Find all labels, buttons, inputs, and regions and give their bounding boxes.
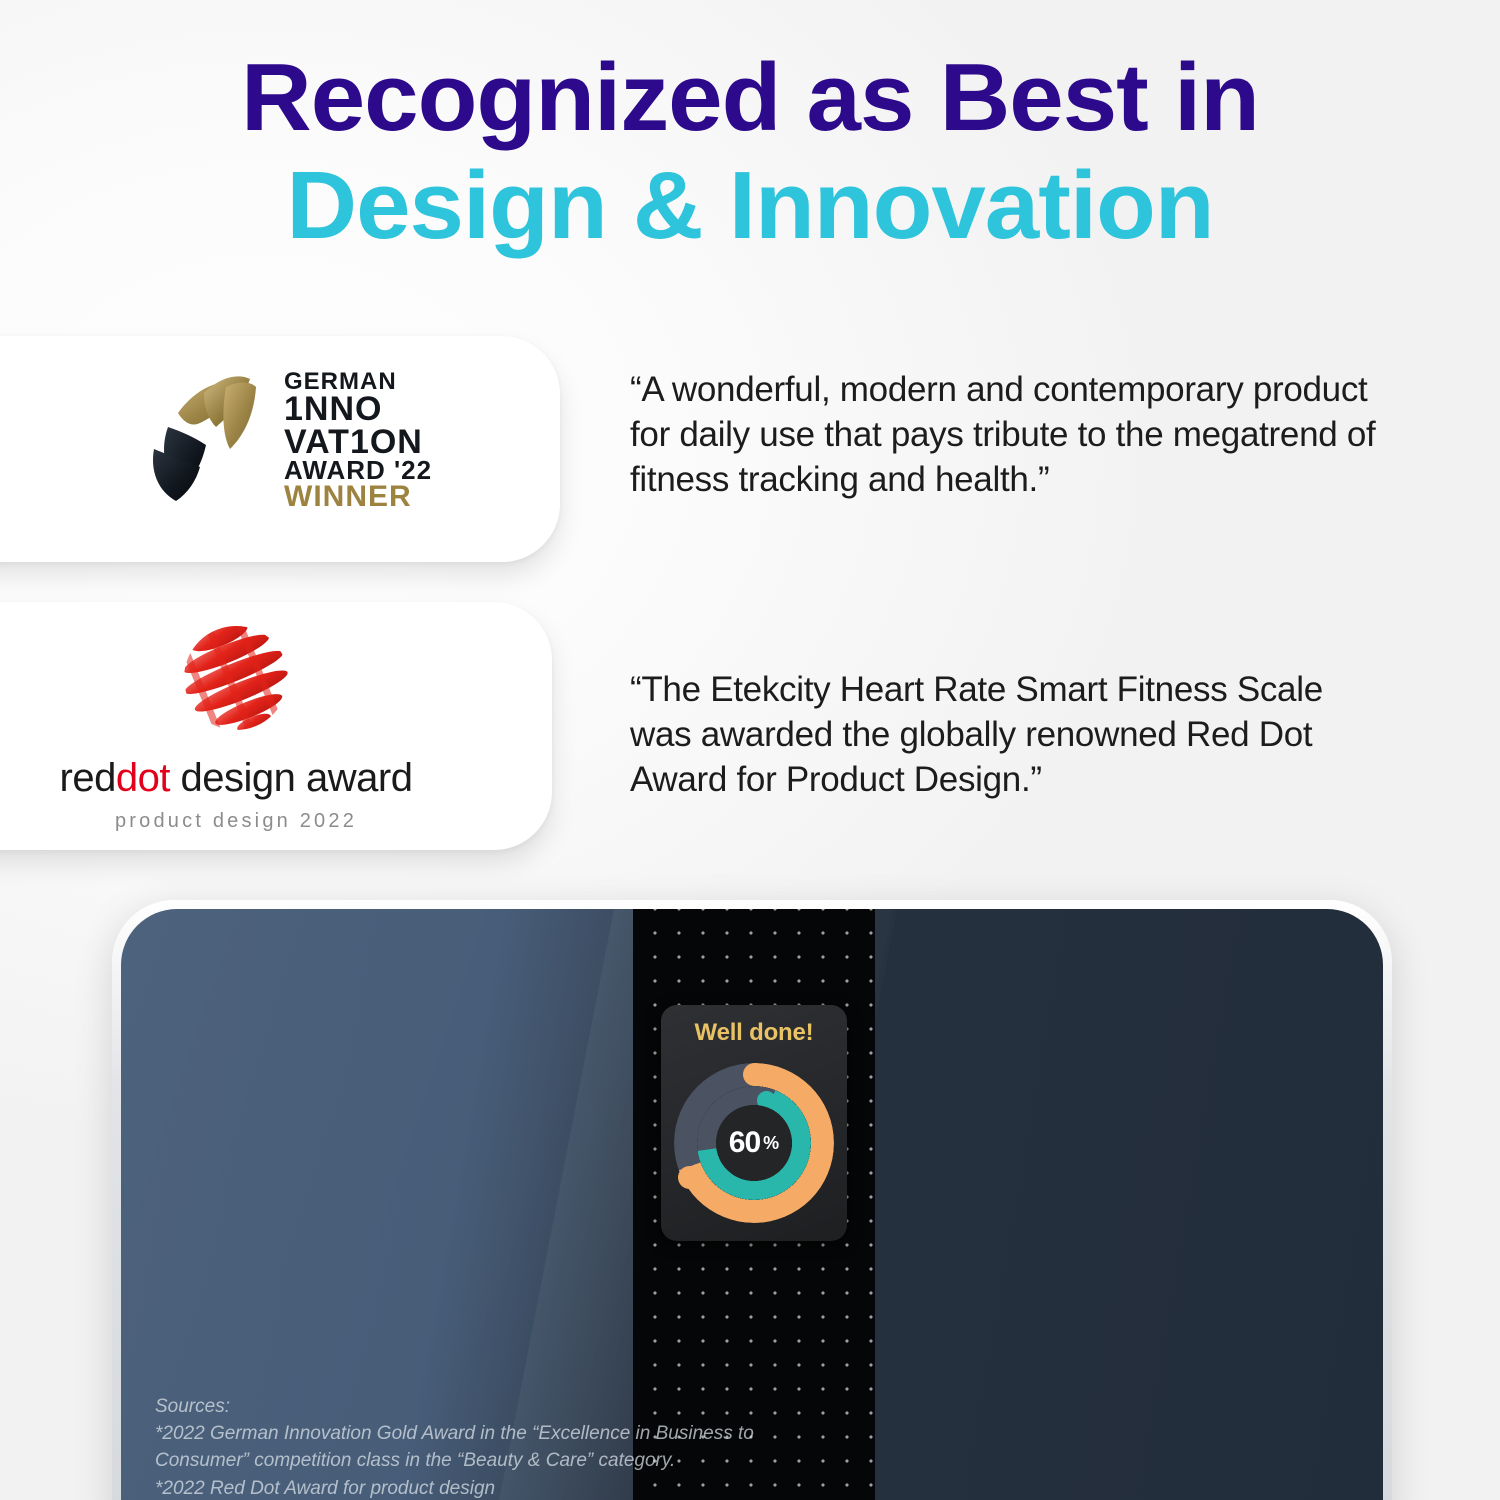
headline-line-1: Recognized as Best in <box>0 46 1500 150</box>
reddot-word-red: red <box>60 756 116 800</box>
reddot-word-design-award: design award <box>170 756 413 800</box>
scale-glass-surface: Well done! 60 % <box>121 909 1383 1500</box>
percent-unit: % <box>763 1133 779 1154</box>
sources-line-2: Consumer” competition class in the “Beau… <box>155 1447 754 1474</box>
reddot-word-dot: dot <box>116 756 170 800</box>
sources-note: Sources: *2022 German Innovation Gold Aw… <box>155 1393 754 1500</box>
product-smart-fitness-scale: Well done! 60 % <box>112 900 1392 1500</box>
gia-line-5: WINNER <box>284 483 432 512</box>
page-title: Recognized as Best in Design & Innovatio… <box>0 46 1500 257</box>
outer-ring-cap-start <box>743 1063 766 1086</box>
gia-line-3: VAT1ON <box>284 426 432 459</box>
german-innovation-award-ribbon-icon <box>138 371 266 511</box>
german-innovation-award-badge: GERMAN 1NNO VAT1ON AWARD '22 WINNER <box>138 370 432 512</box>
red-dot-striped-sphere-icon <box>182 624 290 732</box>
red-dot-subtitle: product design 2022 <box>0 810 516 833</box>
award-card-german-innovation: GERMAN 1NNO VAT1ON AWARD '22 WINNER <box>0 336 560 562</box>
display-title: Well done! <box>661 1019 847 1047</box>
sources-line-1: *2022 German Innovation Gold Award in th… <box>155 1420 754 1447</box>
sources-line-3: *2022 Red Dot Award for product design <box>155 1475 754 1500</box>
award-card-red-dot: reddot design award product design 2022 <box>0 602 552 850</box>
marketing-page: Recognized as Best in Design & Innovatio… <box>0 0 1500 1500</box>
scale-display-panel: Well done! 60 % <box>661 1005 847 1241</box>
award-quote-red-dot: “The Etekcity Heart Rate Smart Fitness S… <box>630 668 1390 802</box>
outer-ring-cap-end <box>678 1166 701 1189</box>
award-quote-german-innovation: “A wonderful, modern and contemporary pr… <box>630 368 1390 502</box>
progress-ring-chart: 60 % <box>674 1063 834 1223</box>
red-dot-design-award-badge: reddot design award product design 2022 <box>0 624 516 833</box>
red-dot-wordmark: reddot design award <box>0 758 516 798</box>
headline-line-2: Design & Innovation <box>0 154 1500 258</box>
sources-title: Sources: <box>155 1393 754 1420</box>
percent-value: 60 <box>729 1126 760 1160</box>
gia-line-2: 1NNO <box>284 393 432 426</box>
progress-ring-center: 60 % <box>716 1105 792 1181</box>
german-innovation-award-wordmark: GERMAN 1NNO VAT1ON AWARD '22 WINNER <box>284 370 432 512</box>
